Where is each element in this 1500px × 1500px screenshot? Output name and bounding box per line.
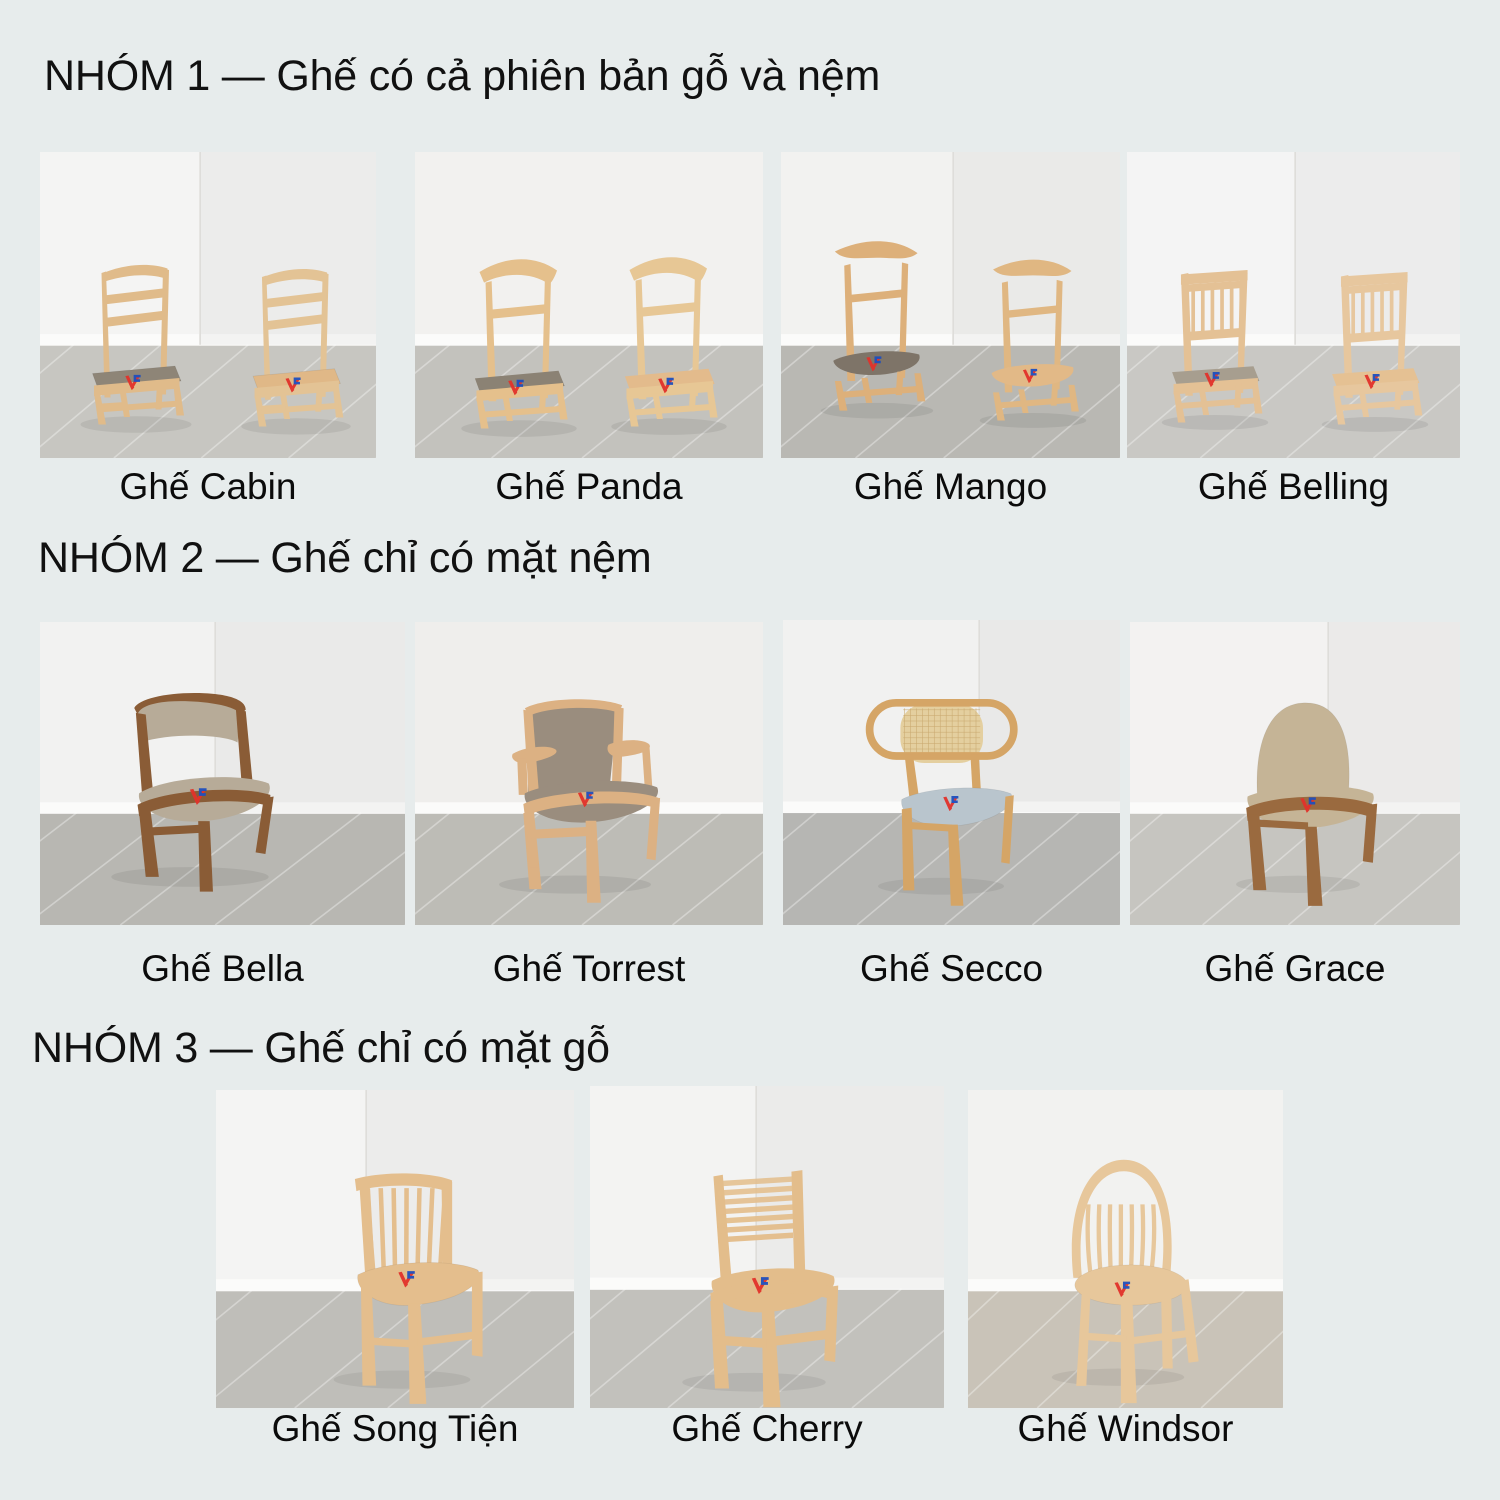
product-image-ghe-windsor[interactable] [968, 1090, 1283, 1408]
product-image-ghe-panda[interactable] [415, 152, 763, 458]
product-scene [415, 152, 763, 458]
product-image-ghe-cherry[interactable] [590, 1086, 944, 1408]
product-label-ghe-grace: Ghế Grace [1130, 948, 1460, 990]
product-label-ghe-song-tien: Ghế Song Tiện [216, 1408, 574, 1450]
product-photo [783, 620, 1120, 925]
product-scene [415, 622, 763, 925]
product-image-ghe-belling[interactable] [1127, 152, 1460, 458]
product-scene [1130, 622, 1460, 925]
product-label-ghe-belling: Ghế Belling [1127, 466, 1460, 508]
product-image-ghe-mango[interactable] [781, 152, 1120, 458]
product-image-ghe-cabin[interactable] [40, 152, 376, 458]
product-photo [415, 622, 763, 925]
product-photo [1130, 622, 1460, 925]
product-scene [781, 152, 1120, 458]
product-photo [40, 152, 376, 458]
product-label-ghe-cherry: Ghế Cherry [590, 1408, 944, 1450]
product-scene [40, 622, 405, 925]
group-heading-1: NHÓM 1 — Ghế có cả phiên bản gỗ và nệm [44, 52, 880, 101]
group-heading-2: NHÓM 2 — Ghế chỉ có mặt nệm [38, 534, 652, 583]
product-photo [781, 152, 1120, 458]
product-image-ghe-grace[interactable] [1130, 622, 1460, 925]
chair-catalog-page: NHÓM 1 — Ghế có cả phiên bản gỗ và nệm [0, 0, 1500, 1500]
product-label-ghe-secco: Ghế Secco [783, 948, 1120, 990]
product-image-ghe-secco[interactable] [783, 620, 1120, 925]
product-photo [1127, 152, 1460, 458]
product-scene [216, 1090, 574, 1408]
product-photo [590, 1086, 944, 1408]
product-label-ghe-panda: Ghế Panda [415, 466, 763, 508]
product-scene [783, 620, 1120, 925]
product-label-ghe-mango: Ghế Mango [781, 466, 1120, 508]
product-image-ghe-torrest[interactable] [415, 622, 763, 925]
group-heading-3: NHÓM 3 — Ghế chỉ có mặt gỗ [32, 1024, 610, 1073]
product-scene [590, 1086, 944, 1408]
product-label-ghe-torrest: Ghế Torrest [415, 948, 763, 990]
floor [216, 1290, 574, 1408]
product-scene [40, 152, 376, 458]
product-photo [216, 1090, 574, 1408]
product-photo [968, 1090, 1283, 1408]
product-scene [1127, 152, 1460, 458]
product-scene [968, 1090, 1283, 1408]
product-photo [415, 152, 763, 458]
floor [1130, 813, 1460, 925]
product-image-ghe-bella[interactable] [40, 622, 405, 925]
product-photo [40, 622, 405, 925]
baseboard [415, 334, 763, 346]
product-label-ghe-cabin: Ghế Cabin [40, 466, 376, 508]
product-label-ghe-windsor: Ghế Windsor [968, 1408, 1283, 1450]
product-image-ghe-song-tien[interactable] [216, 1090, 574, 1408]
product-label-ghe-bella: Ghế Bella [40, 948, 405, 990]
